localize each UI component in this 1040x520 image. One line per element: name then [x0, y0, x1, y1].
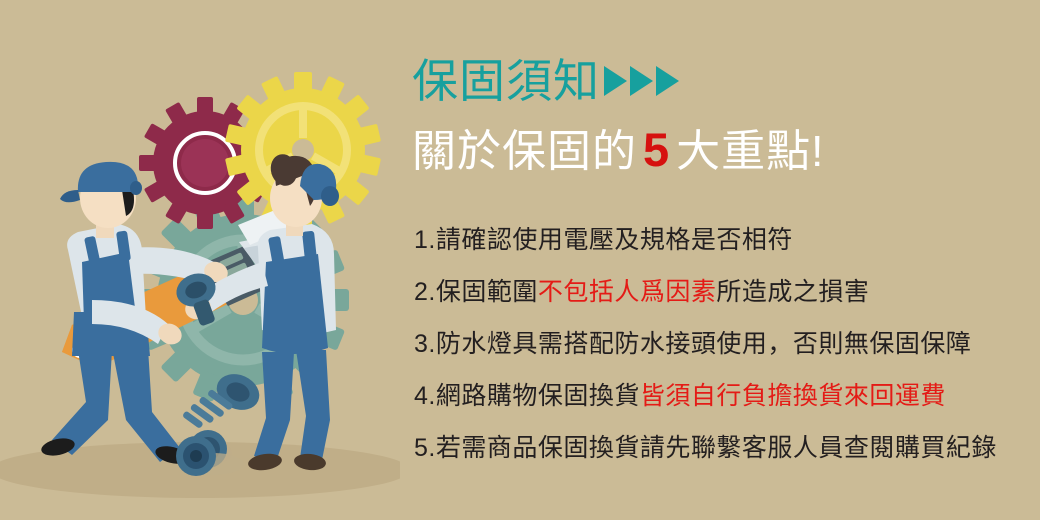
warranty-points-list: 1.請確認使用電壓及規格是否相符2.保固範圍不包括人爲因素所造成之損害3.防水燈…: [414, 228, 1040, 488]
triangle-right-icon: [604, 66, 627, 96]
warranty-banner: 保固須知 關於保固的5大重點! 1.請確認使用電壓及規格是否相符2.保固範圍不包…: [0, 0, 1040, 520]
list-item-text: 防水燈具需搭配防水接頭使用，否則無保固保障: [436, 330, 972, 358]
page-title: 保固須知: [412, 58, 600, 104]
list-item-emphasis: 皆須自行負擔換貨來回運費: [640, 382, 946, 410]
subheadline-prefix: 關於保固的: [412, 127, 637, 176]
triangle-right-icon: [656, 66, 679, 96]
subheadline-suffix: 大重點!: [676, 127, 824, 176]
list-item-text: 所造成之損害: [716, 278, 869, 306]
triangle-right-icon: [630, 66, 653, 96]
arrow-group: [604, 66, 679, 96]
list-item: 2.保固範圍不包括人爲因素所造成之損害: [414, 280, 1040, 332]
list-item-index: 5.: [414, 434, 436, 462]
list-item-index: 3.: [414, 330, 436, 358]
subheadline-number: 5: [637, 123, 676, 176]
list-item: 4.網路購物保固換貨皆須自行負擔換貨來回運費: [414, 384, 1040, 436]
list-item-text: 保固範圍: [436, 278, 538, 306]
headline-row: 保固須知: [412, 52, 679, 110]
list-item-text: 請確認使用電壓及規格是否相符: [436, 226, 793, 254]
list-item: 3.防水燈具需搭配防水接頭使用，否則無保固保障: [414, 332, 1040, 384]
list-item-index: 1.: [414, 226, 436, 254]
workers-gears-illustration: [0, 0, 400, 520]
list-item-index: 2.: [414, 278, 436, 306]
list-item: 5.若需商品保固換貨請先聯繫客服人員查閱購買紀錄: [414, 436, 1040, 488]
list-item-emphasis: 不包括人爲因素: [538, 278, 717, 306]
list-item-text: 網路購物保固換貨: [436, 382, 640, 410]
text-content: 保固須知 關於保固的5大重點! 1.請確認使用電壓及規格是否相符2.保固範圍不包…: [410, 0, 1040, 520]
list-item-index: 4.: [414, 382, 436, 410]
bolt-ground-icon: [176, 436, 244, 476]
list-item: 1.請確認使用電壓及規格是否相符: [414, 228, 1040, 280]
subheadline: 關於保固的5大重點!: [412, 126, 824, 174]
list-item-text: 若需商品保固換貨請先聯繫客服人員查閱購買紀錄: [436, 434, 997, 462]
